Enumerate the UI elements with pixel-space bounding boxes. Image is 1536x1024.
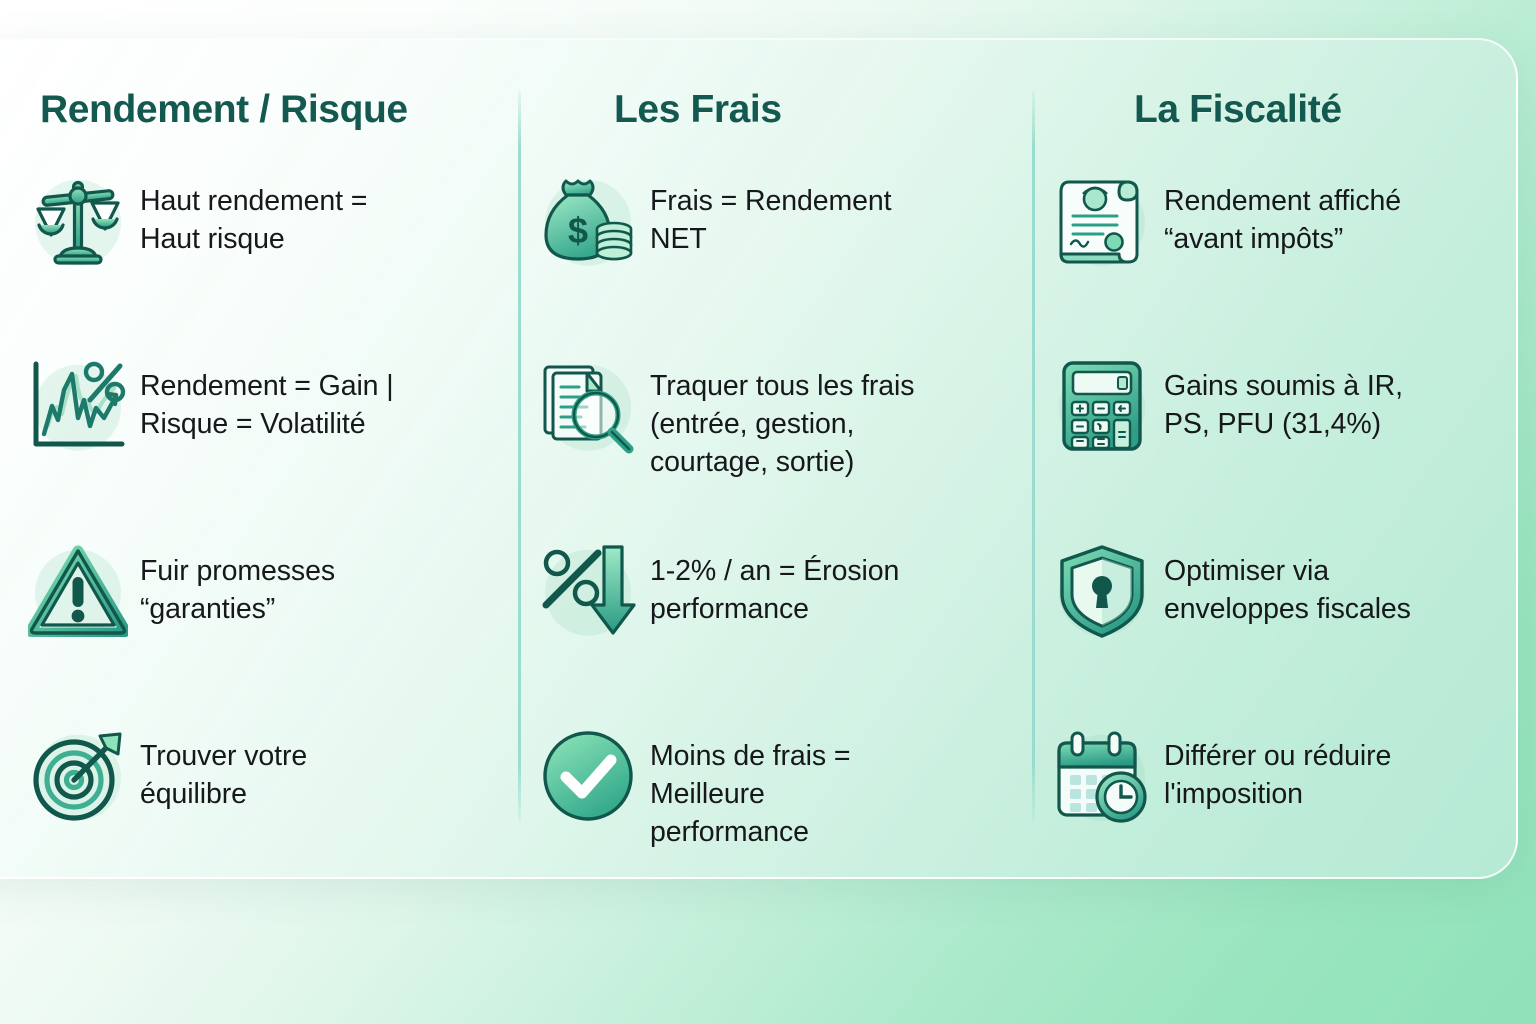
warning-triangle-icon bbox=[22, 535, 134, 647]
target-dart-icon bbox=[22, 720, 134, 832]
infographic-card: Rendement / Risque bbox=[0, 38, 1518, 879]
list-item: Rendement affiché “avant impôts” bbox=[1046, 165, 1482, 332]
column-title-les-frais: Les Frais bbox=[532, 90, 994, 131]
column-title-rendement-risque: Rendement / Risque bbox=[22, 90, 480, 131]
money-bag-coins-icon: $ bbox=[532, 165, 644, 277]
list-item-text: 1-2% / an = Érosion performance bbox=[644, 535, 899, 629]
column-rendement-risque: Rendement / Risque bbox=[2, 40, 480, 879]
list-item-text: Différer ou réduire l'imposition bbox=[1158, 720, 1391, 814]
list-item-text: Rendement = Gain | Risque = Volatilité bbox=[134, 350, 394, 444]
list-item: Trouver votre équilibre bbox=[22, 720, 480, 879]
list-item-text: Rendement affiché “avant impôts” bbox=[1158, 165, 1401, 259]
calculator-icon bbox=[1046, 350, 1158, 462]
list-item-text: Trouver votre équilibre bbox=[134, 720, 307, 814]
list-item-text: Traquer tous les frais (entrée, gestion,… bbox=[644, 350, 914, 482]
list-item: Fuir promesses “garanties” bbox=[22, 535, 480, 702]
item-list-les-frais: $ Fr bbox=[532, 165, 994, 879]
item-list-rendement-risque: Haut rendement = Haut risque bbox=[22, 165, 480, 879]
list-item: Optimiser via enveloppes fiscales bbox=[1046, 535, 1482, 702]
list-item-text: Haut rendement = Haut risque bbox=[134, 165, 367, 259]
list-item-text: Frais = Rendement NET bbox=[644, 165, 891, 259]
column-la-fiscalite: La Fiscalité bbox=[994, 40, 1482, 879]
list-item-text: Fuir promesses “garanties” bbox=[134, 535, 335, 629]
list-item: Moins de frais = Meilleure performance bbox=[532, 720, 994, 879]
balance-scale-icon bbox=[22, 165, 134, 277]
column-title-la-fiscalite: La Fiscalité bbox=[1046, 90, 1482, 131]
official-document-seal-icon bbox=[1046, 165, 1158, 277]
column-les-frais: Les Frais $ bbox=[480, 40, 994, 879]
volatility-chart-percent-icon bbox=[22, 350, 134, 462]
list-item: Différer ou réduire l'imposition bbox=[1046, 720, 1482, 879]
list-item-text: Moins de frais = Meilleure performance bbox=[644, 720, 850, 852]
percent-down-arrow-icon bbox=[532, 535, 644, 647]
shield-lock-icon bbox=[1046, 535, 1158, 647]
list-item: Haut rendement = Haut risque bbox=[22, 165, 480, 332]
document-magnifier-icon bbox=[532, 350, 644, 462]
list-item: 1-2% / an = Érosion performance bbox=[532, 535, 994, 702]
list-item: $ Fr bbox=[532, 165, 994, 332]
calendar-clock-icon bbox=[1046, 720, 1158, 832]
check-circle-icon bbox=[532, 720, 644, 832]
columns-container: Rendement / Risque bbox=[2, 40, 1482, 879]
svg-text:$: $ bbox=[568, 210, 588, 251]
list-item: Traquer tous les frais (entrée, gestion,… bbox=[532, 350, 994, 517]
list-item: Gains soumis à IR, PS, PFU (31,4%) bbox=[1046, 350, 1482, 517]
list-item-text: Optimiser via enveloppes fiscales bbox=[1158, 535, 1411, 629]
list-item-text: Gains soumis à IR, PS, PFU (31,4%) bbox=[1158, 350, 1403, 444]
item-list-la-fiscalite: Rendement affiché “avant impôts” bbox=[1046, 165, 1482, 879]
list-item: Rendement = Gain | Risque = Volatilité bbox=[22, 350, 480, 517]
